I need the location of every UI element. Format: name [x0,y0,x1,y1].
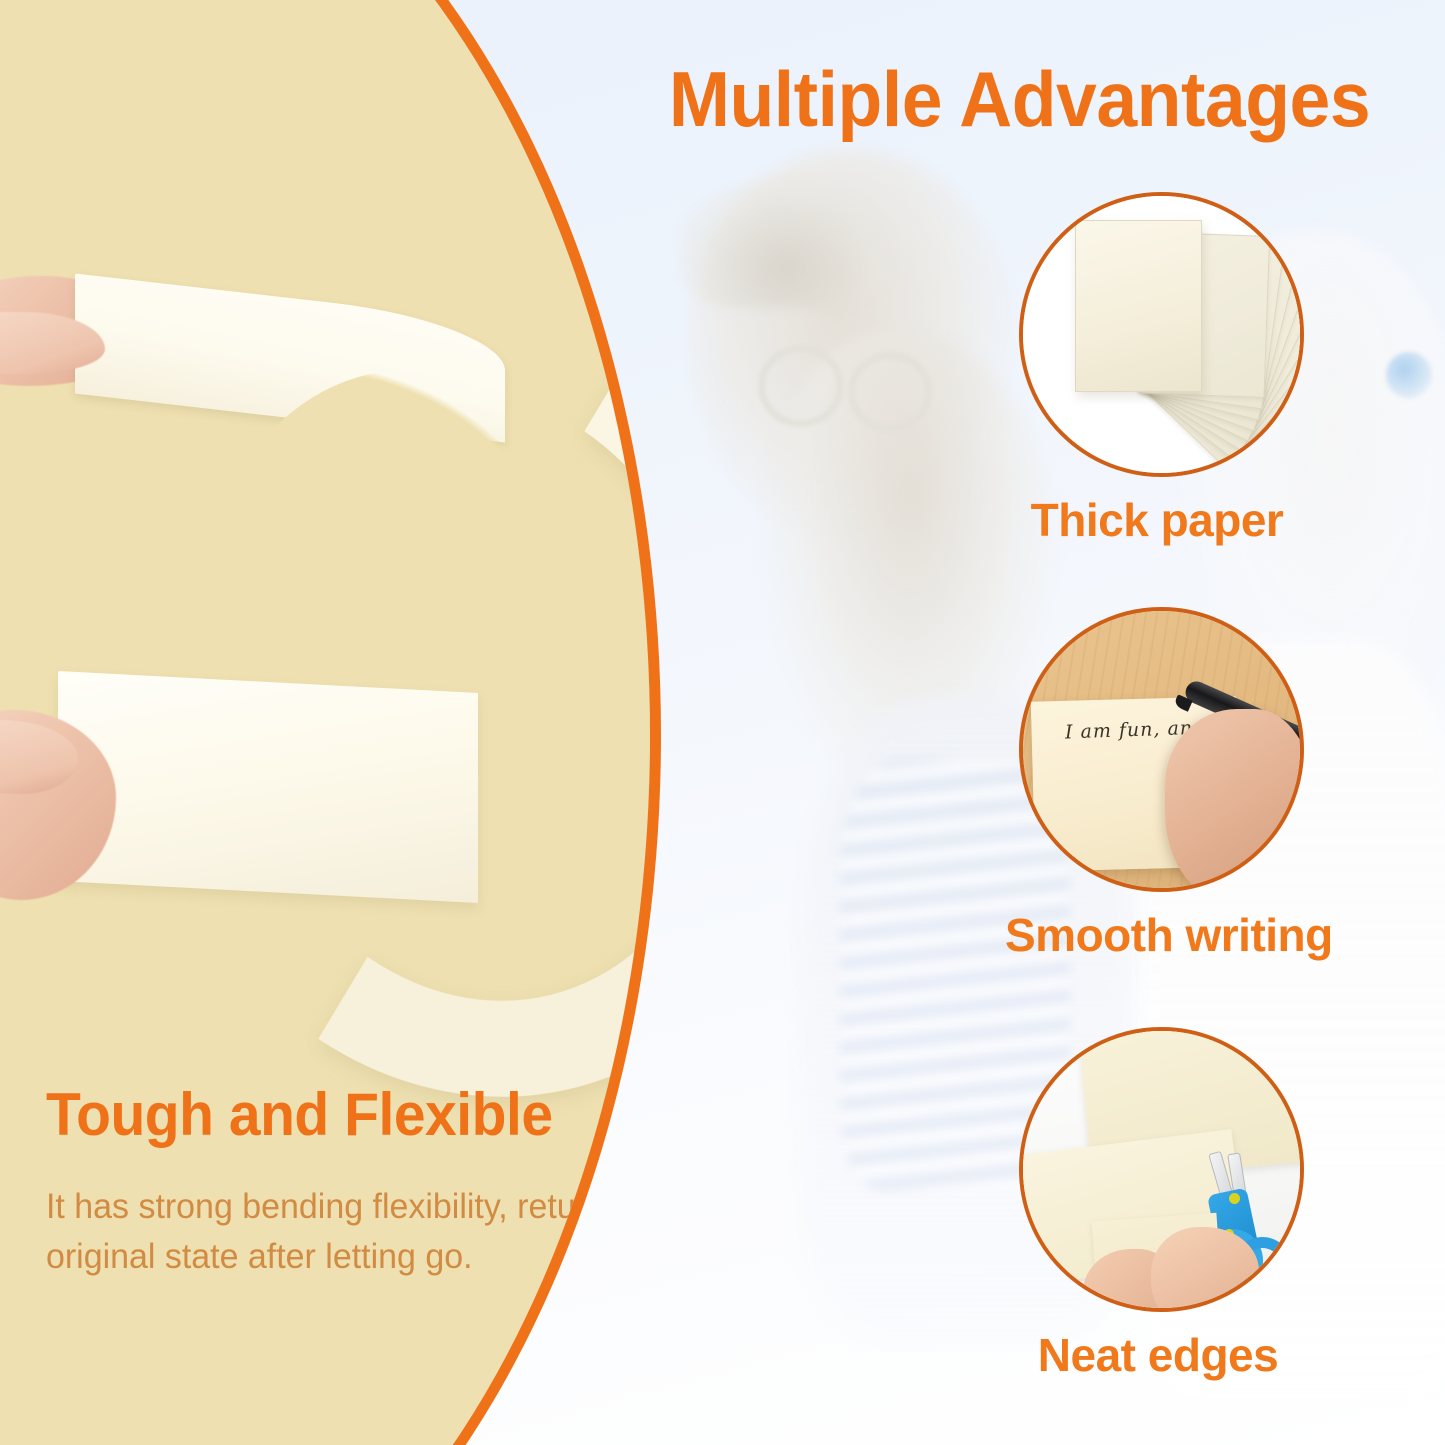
scissors-pivot-pin [1229,1193,1240,1204]
feature-label-thick-paper: Thick paper [1003,493,1311,547]
feature-smooth-writing: I am fun, and Smooth writing [1011,607,1311,962]
feature-label-neat-edges: Neat edges [1005,1328,1311,1382]
left-section-body: It has strong bending flexibility, retur… [46,1182,650,1281]
cutting-hand-right [1151,1227,1259,1312]
feature-thick-paper: Thick paper [1011,192,1311,547]
writing-hand [1165,709,1304,892]
background-sunglasses-lens-left [758,345,844,427]
feature-image-smooth-writing: I am fun, and [1019,607,1304,892]
product-feature-poster: Tough and Flexible It has strong bending… [0,0,1445,1445]
background-child-hat [680,178,890,308]
front-cardstock-sheet [1075,220,1202,392]
feature-image-neat-edges [1019,1027,1304,1312]
left-panel-content: Tough and Flexible It has strong bending… [0,0,650,1445]
background-sunglasses-lens-right [848,352,932,432]
feature-image-thick-paper [1019,192,1304,477]
cardstock-sheet-bottom-edge [58,671,478,903]
page-title: Multiple Advantages [636,60,1402,138]
hero-photo-bending-sheet [0,250,650,950]
left-section-heading: Tough and Flexible [46,1085,553,1145]
background-glasses-blue-lens [1386,352,1432,398]
feature-neat-edges: Neat edges [1011,1027,1311,1382]
feature-label-smooth-writing: Smooth writing [1005,908,1311,962]
left-cream-panel: Tough and Flexible It has strong bending… [0,0,650,1445]
